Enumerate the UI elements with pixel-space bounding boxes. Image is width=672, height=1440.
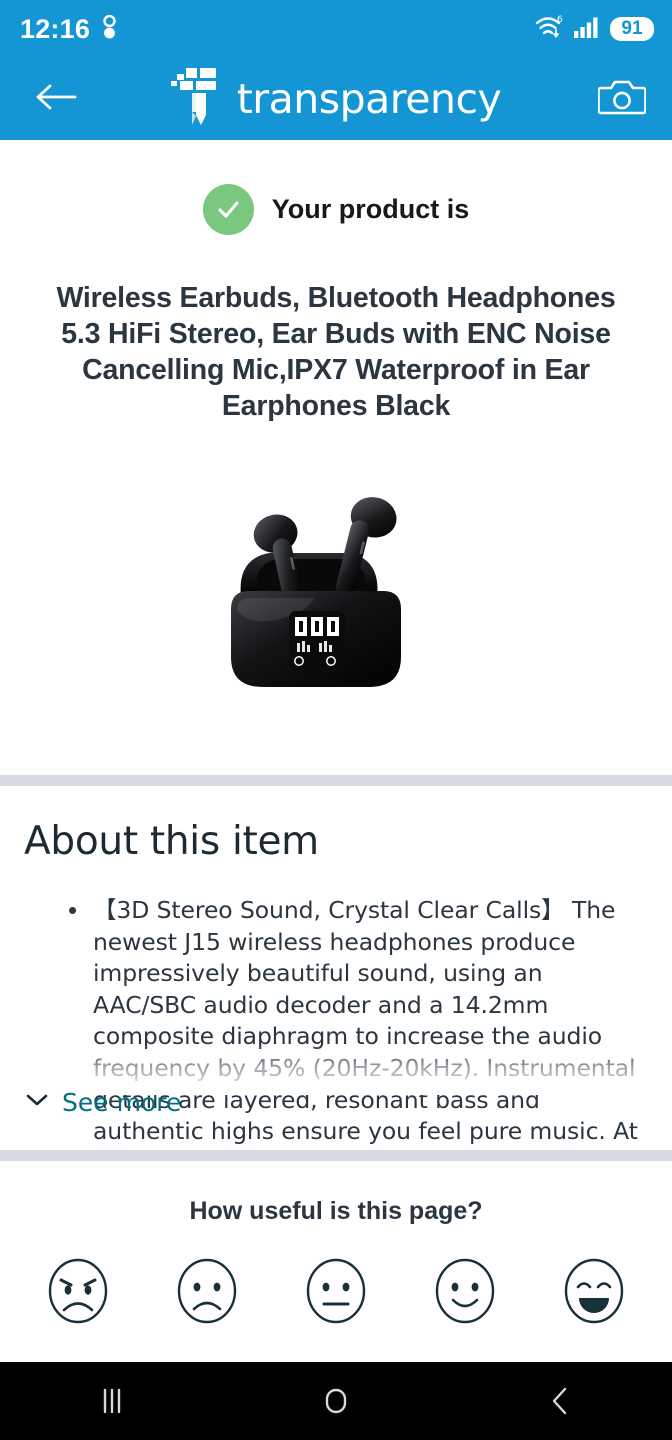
status-bar-clock: 12:16: [20, 16, 90, 43]
back-arrow-icon[interactable]: [34, 80, 78, 119]
status-bar: 12:16 6: [0, 0, 672, 58]
camera-icon[interactable]: [598, 77, 646, 122]
svg-text:6: 6: [557, 15, 563, 25]
see-more-label: See more: [62, 1088, 181, 1117]
wifi-icon: 6: [534, 14, 564, 45]
home-icon[interactable]: [276, 1362, 396, 1440]
recents-icon[interactable]: [52, 1362, 172, 1440]
angry-face-icon[interactable]: [41, 1254, 115, 1328]
android-navigation-bar: [0, 1362, 672, 1440]
list-item: 【3D Stereo Sound, Crystal Clear Calls】 T…: [0, 895, 672, 1179]
smile-face-icon[interactable]: [428, 1254, 502, 1328]
product-title: Wireless Earbuds, Bluetooth Headphones 5…: [36, 281, 636, 425]
transparency-logo-icon: [171, 66, 227, 133]
product-image[interactable]: [0, 469, 672, 719]
feedback-face-row: [0, 1254, 672, 1328]
neutral-face-icon[interactable]: [299, 1254, 373, 1328]
nav-back-icon[interactable]: [500, 1362, 620, 1440]
phone-screen: 12:16 6: [0, 0, 672, 1440]
verification-label: Your product is: [272, 194, 470, 225]
brand-name: transparency: [237, 79, 502, 120]
battery-badge: 91: [610, 17, 654, 42]
product-section: Your product is Wireless Earbuds, Blueto…: [0, 140, 672, 719]
brand-lockup: transparency: [171, 66, 502, 133]
about-heading: About this item: [24, 822, 672, 861]
check-circle-icon: [203, 184, 254, 235]
status-bar-right: 6 91: [534, 14, 654, 45]
section-divider-1: [0, 775, 672, 786]
verification-status: Your product is: [0, 184, 672, 235]
feedback-question: How useful is this page?: [0, 1197, 672, 1226]
key-icon: [102, 15, 117, 44]
about-bullet-list: 【3D Stereo Sound, Crystal Clear Calls】 T…: [0, 895, 672, 1179]
feedback-section: How useful is this page?: [0, 1161, 672, 1362]
happy-face-icon[interactable]: [557, 1254, 631, 1328]
see-more-button[interactable]: See more: [24, 1088, 181, 1117]
sad-face-icon[interactable]: [170, 1254, 244, 1328]
section-divider-2: [0, 1150, 672, 1161]
app-bar: transparency: [0, 58, 672, 140]
about-bullet-text: 【3D Stereo Sound, Crystal Clear Calls】 T…: [93, 896, 638, 1177]
status-bar-left: 12:16: [20, 15, 117, 44]
cellular-signal-icon: [573, 15, 601, 44]
chevron-down-icon: [24, 1092, 50, 1113]
